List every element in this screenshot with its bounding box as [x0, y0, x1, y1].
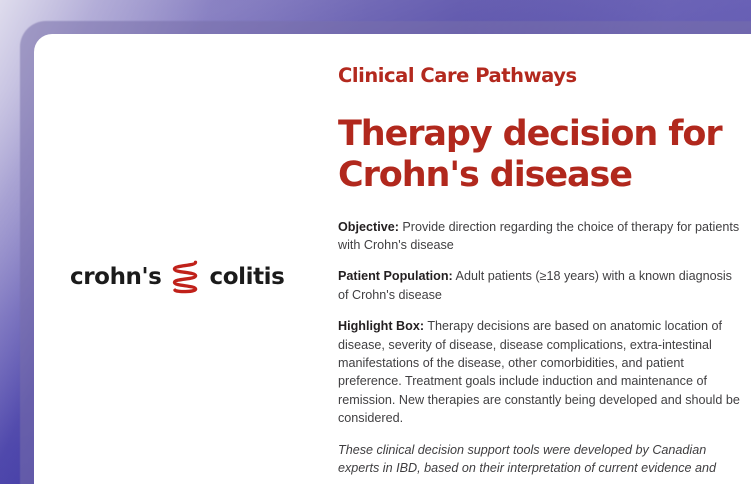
page-title: Therapy decision for Crohn's disease — [338, 114, 744, 197]
section-objective-label: Objective: — [338, 220, 399, 234]
section-patient-population-label: Patient Population: — [338, 269, 453, 283]
logo-word-colitis: colitis — [209, 264, 284, 290]
section-objective-text: Provide direction regarding the choice o… — [338, 220, 739, 252]
section-highlight-box-text: Therapy decisions are based on anatomic … — [338, 319, 740, 425]
section-patient-population: Patient Population: Adult patients (≥18 … — [338, 267, 744, 304]
disclaimer-text: These clinical decision support tools we… — [338, 441, 744, 478]
eyebrow-clinical-care-pathways: Clinical Care Pathways — [338, 64, 744, 87]
crohns-colitis-canada-logo: crohn's colitis — [70, 259, 284, 295]
section-highlight-box-label: Highlight Box: — [338, 319, 424, 333]
document-card: crohn's colitis Clinical Care Pathways T… — [34, 34, 751, 484]
logo-column: crohn's colitis — [34, 34, 302, 484]
logo-word-crohns: crohn's — [70, 264, 161, 290]
document-column: Clinical Care Pathways Therapy decision … — [302, 34, 751, 484]
section-objective: Objective: Provide direction regarding t… — [338, 218, 744, 255]
intestine-squiggle-icon — [170, 259, 200, 295]
section-highlight-box: Highlight Box: Therapy decisions are bas… — [338, 317, 744, 427]
